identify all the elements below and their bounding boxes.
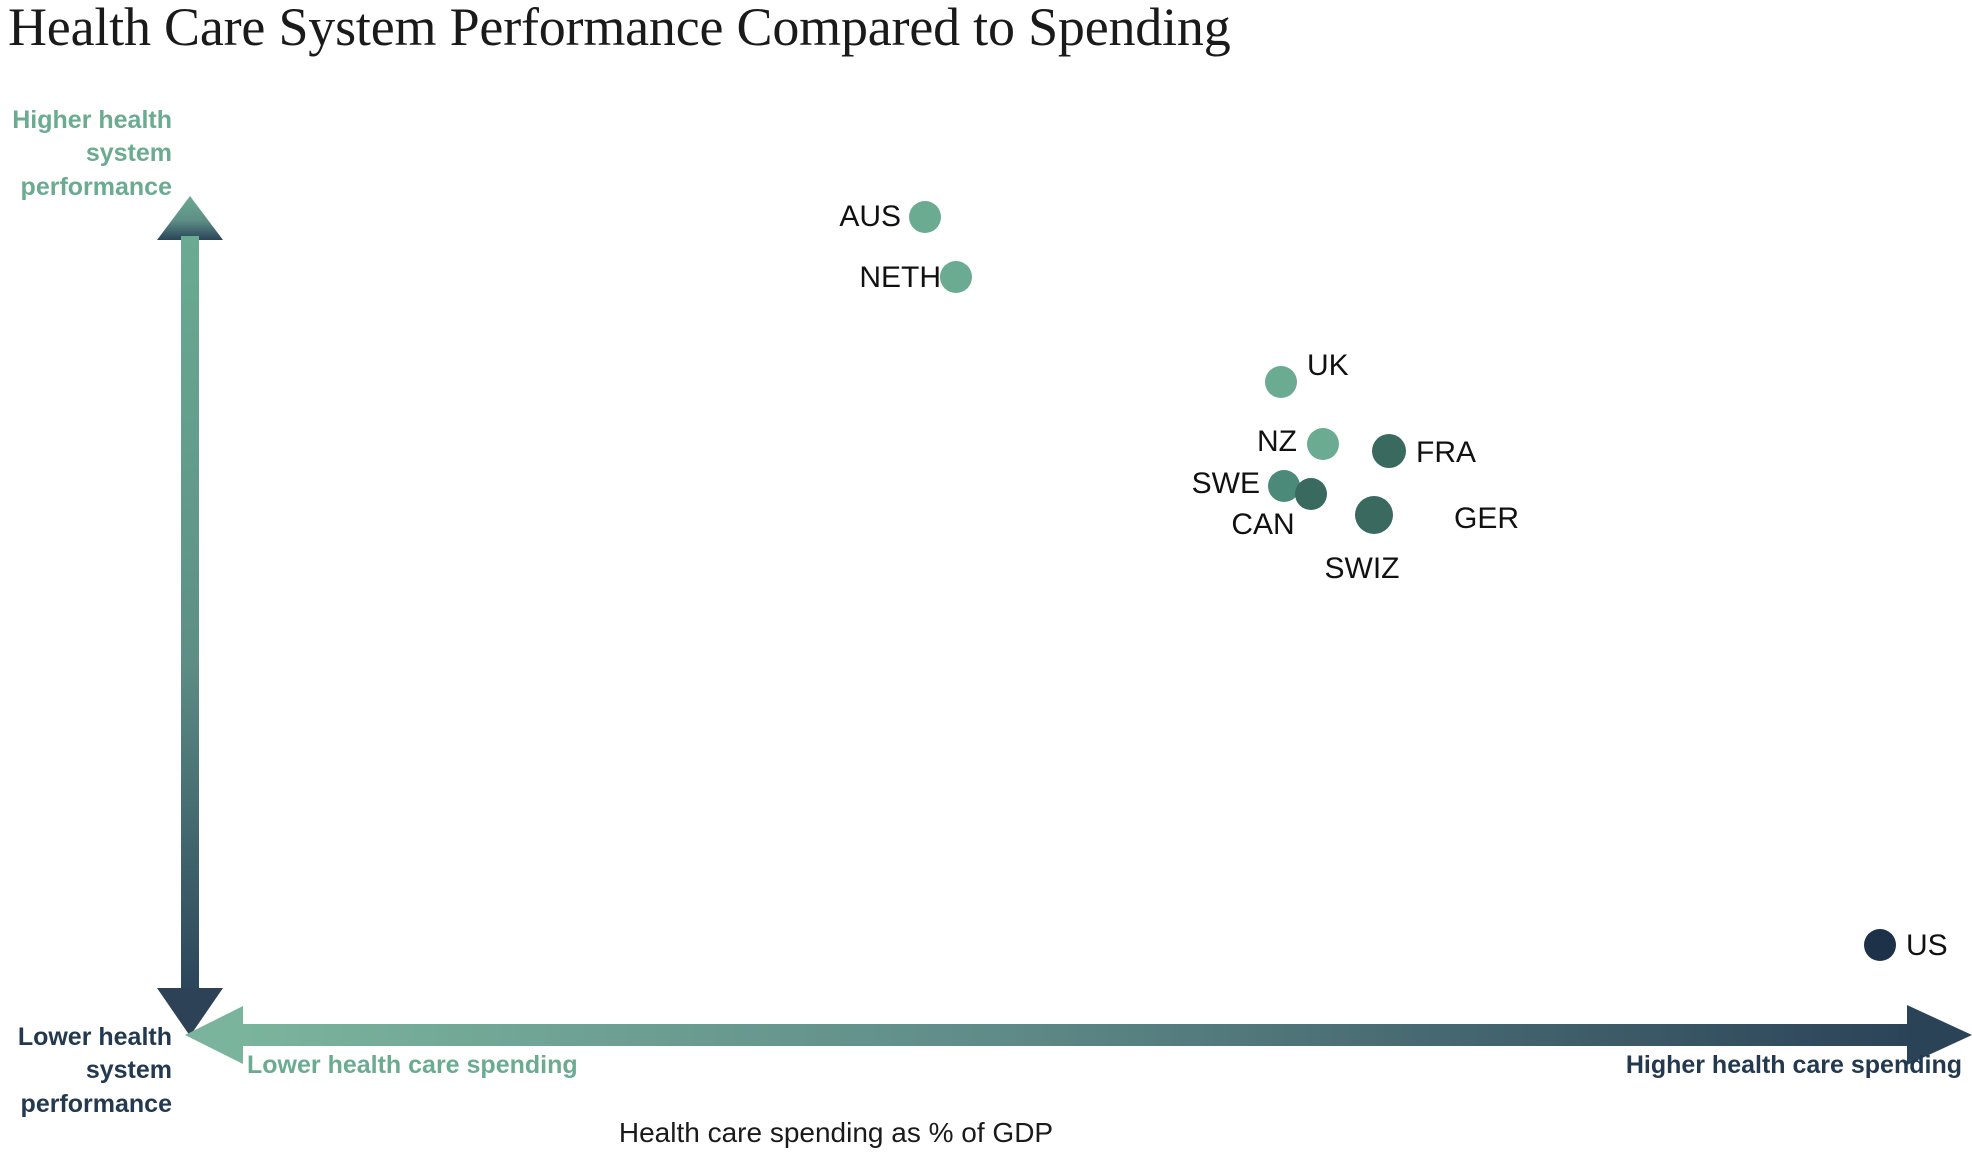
scatter-plot-layer: AUSNETHUKNZFRASWECANSWIZGERUS bbox=[0, 0, 1972, 1172]
chart-canvas: Health Care System Performance Compared … bbox=[0, 0, 1972, 1172]
data-point-label-fra: FRA bbox=[1416, 436, 1476, 470]
data-point-neth[interactable] bbox=[940, 261, 972, 293]
data-point-nz[interactable] bbox=[1307, 428, 1339, 460]
data-point-aus[interactable] bbox=[909, 201, 941, 233]
data-point-label-ger: GER bbox=[1454, 502, 1519, 536]
data-point-fra[interactable] bbox=[1372, 434, 1406, 468]
data-point-label-swe: SWE bbox=[1192, 467, 1260, 501]
data-point-label-neth: NETH bbox=[859, 261, 941, 295]
data-point-label-swiz: SWIZ bbox=[1325, 552, 1400, 586]
data-point-swiz[interactable] bbox=[1355, 496, 1393, 534]
data-point-label-us: US bbox=[1906, 929, 1948, 963]
data-point-label-aus: AUS bbox=[839, 200, 901, 234]
data-point-can[interactable] bbox=[1295, 478, 1327, 510]
data-point-label-uk: UK bbox=[1307, 349, 1349, 383]
data-point-label-nz: NZ bbox=[1257, 425, 1297, 459]
data-point-us[interactable] bbox=[1864, 929, 1896, 961]
data-point-label-can: CAN bbox=[1231, 508, 1294, 542]
data-point-uk[interactable] bbox=[1265, 366, 1297, 398]
